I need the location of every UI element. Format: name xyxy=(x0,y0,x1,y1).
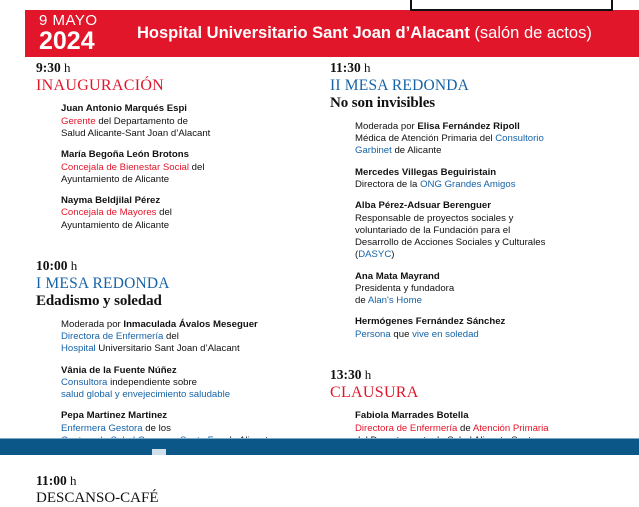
venue-parenthetical: (salón de actos) xyxy=(474,24,591,42)
top-white-tab xyxy=(410,0,613,11)
role-segment: ) xyxy=(391,249,394,260)
speaker-name-prefix: Moderada por xyxy=(61,319,123,330)
role-segment: Universitario Sant Joan d’Alacant xyxy=(96,343,240,354)
speaker-list: Moderada por Inmaculada Ávalos MeseguerD… xyxy=(61,319,326,447)
speaker-role-line: Garbinet de Alicante xyxy=(355,145,630,157)
speaker-entry: Nayma Beldjilal PérezConcejala de Mayore… xyxy=(61,195,326,232)
role-segment: que xyxy=(391,329,412,340)
role-segment: Gerente xyxy=(61,116,96,127)
role-segment: Salud Alicante-Sant Joan d’Alacant xyxy=(61,128,210,139)
block-time-value: 10:00 xyxy=(36,258,68,273)
role-segment: Garbinet xyxy=(355,145,392,156)
block-time-value: 11:30 xyxy=(330,60,361,75)
block-time: 11:00 h xyxy=(36,473,326,490)
speaker-entry: Mercedes Villegas BeguiristainDirectora … xyxy=(355,167,630,192)
speaker-entry: Hermógenes Fernández SánchezPersona que … xyxy=(355,316,630,341)
role-segment: Hospital xyxy=(61,343,96,354)
speaker-list: Moderada por Elisa Fernández RipollMédic… xyxy=(355,121,630,341)
speaker-role-line: Salud Alicante-Sant Joan d’Alacant xyxy=(61,128,326,140)
block-title: INAUGURACIÓN xyxy=(36,77,326,95)
speaker-name: Moderada por Inmaculada Ávalos Meseguer xyxy=(61,319,326,331)
footer-mark xyxy=(152,449,166,455)
role-segment: voluntariado de la Fundación para el xyxy=(355,225,510,236)
role-segment: salud global y envejecimiento saludable xyxy=(61,389,230,400)
speaker-role-line: Médica de Atención Primaria del Consulto… xyxy=(355,133,630,145)
speaker-entry: Moderada por Inmaculada Ávalos MeseguerD… xyxy=(61,319,326,356)
program-columns: 9:30 hINAUGURACIÓNJuan Antonio Marqués E… xyxy=(0,60,639,430)
speaker-role-line: Ayuntamiento de Alicante xyxy=(61,174,326,186)
speaker-role-line: voluntariado de la Fundación para el xyxy=(355,225,630,237)
speaker-name: Vânia de la Fuente Núñez xyxy=(61,365,326,377)
speaker-name-value: Inmaculada Ávalos Meseguer xyxy=(123,319,257,330)
speaker-entry: Vânia de la Fuente NúñezConsultora indep… xyxy=(61,365,326,402)
role-segment: ONG Grandes Amigos xyxy=(420,179,515,190)
role-segment: DASYC xyxy=(358,249,391,260)
header-band: 9 MAYO 2024 Hospital Universitario Sant … xyxy=(25,10,639,57)
role-segment: vive en soledad xyxy=(412,329,479,340)
speaker-name: Moderada por Elisa Fernández Ripoll xyxy=(355,121,630,133)
role-segment: Directora de Enfermería xyxy=(61,331,163,342)
block-time: 11:30 h xyxy=(330,60,630,77)
venue-main: Hospital Universitario Sant Joan d’Alaca… xyxy=(137,24,470,42)
speaker-role-line: Gerente del Departamento de xyxy=(61,116,326,128)
block-time-unit: h xyxy=(361,60,371,75)
role-segment: Persona xyxy=(355,329,391,340)
program-block: 9:30 hINAUGURACIÓNJuan Antonio Marqués E… xyxy=(36,60,326,232)
venue-title: Hospital Universitario Sant Joan d’Alaca… xyxy=(137,24,592,43)
block-time: 9:30 h xyxy=(36,60,326,77)
event-date: 9 MAYO 2024 xyxy=(39,13,98,54)
speaker-name-prefix: Moderada por xyxy=(355,121,417,132)
speaker-name: Ana Mata Mayrand xyxy=(355,271,630,283)
block-time-unit: h xyxy=(67,473,77,488)
role-segment: Desarrollo de Acciones Sociales y Cultur… xyxy=(355,237,545,248)
speaker-role-line: Concejala de Mayores del xyxy=(61,207,326,219)
block-time-value: 9:30 xyxy=(36,60,61,75)
speaker-role-line: Responsable de proyectos sociales y xyxy=(355,213,630,225)
role-segment: de los xyxy=(143,423,171,434)
block-title: II MESA REDONDA xyxy=(330,77,630,95)
role-segment: Atención Primaria xyxy=(473,423,549,434)
speaker-entry: Moderada por Elisa Fernández RipollMédic… xyxy=(355,121,630,158)
block-time: 13:30 h xyxy=(330,367,630,384)
role-segment: Enfermera Gestora xyxy=(61,423,143,434)
role-segment: Consultorio xyxy=(495,133,544,144)
role-segment: Ayuntamiento de Alicante xyxy=(61,220,169,231)
date-day: 9 MAYO xyxy=(39,13,98,28)
speaker-list: Juan Antonio Marqués EspiGerente del Dep… xyxy=(61,103,326,231)
block-subtitle: Edadismo y soledad xyxy=(36,293,326,310)
role-segment: Presidenta y fundadora xyxy=(355,283,454,294)
role-segment: independiente sobre xyxy=(107,377,197,388)
speaker-role-line: Ayuntamiento de Alicante xyxy=(61,220,326,232)
role-segment: de Alicante xyxy=(392,145,442,156)
speaker-entry: Juan Antonio Marqués EspiGerente del Dep… xyxy=(61,103,326,140)
speaker-name: Fabiola Marrades Botella xyxy=(355,410,630,422)
program-block: 11:00 hDESCANSO-CAFÉ xyxy=(36,473,326,507)
speaker-role-line: Consultora independiente sobre xyxy=(61,377,326,389)
speaker-role-line: Presidenta y fundadora xyxy=(355,283,630,295)
footer-band xyxy=(0,438,639,455)
block-subtitle: No son invisibles xyxy=(330,95,630,112)
role-segment: del xyxy=(163,331,178,342)
block-time-unit: h xyxy=(362,367,372,382)
program-block: 10:00 hI MESA REDONDAEdadismo y soledadM… xyxy=(36,258,326,447)
speaker-role-line: Enfermera Gestora de los xyxy=(61,423,326,435)
speaker-role-line: Concejala de Bienestar Social del xyxy=(61,162,326,174)
speaker-name-value: Elisa Fernández Ripoll xyxy=(417,121,519,132)
speaker-role-line: Persona que vive en soledad xyxy=(355,329,630,341)
role-segment: Directora de Enfermería xyxy=(355,423,457,434)
speaker-name: Pepa Martinez Martinez xyxy=(61,410,326,422)
role-segment: Concejala de Mayores xyxy=(61,207,156,218)
speaker-name: Mercedes Villegas Beguiristain xyxy=(355,167,630,179)
speaker-entry: Ana Mata MayrandPresidenta y fundadorade… xyxy=(355,271,630,308)
speaker-role-line: de Alan's Home xyxy=(355,295,630,307)
role-segment: de xyxy=(355,295,368,306)
role-segment: Alan's Home xyxy=(368,295,422,306)
block-time-value: 11:00 xyxy=(36,473,67,488)
speaker-role-line: Directora de Enfermería de Atención Prim… xyxy=(355,423,630,435)
program-block: 11:30 hII MESA REDONDANo son invisiblesM… xyxy=(330,60,630,341)
speaker-name: Nayma Beldjilal Pérez xyxy=(61,195,326,207)
program-column-right: 11:30 hII MESA REDONDANo son invisiblesM… xyxy=(330,60,630,468)
speaker-name: Juan Antonio Marqués Espi xyxy=(61,103,326,115)
block-time-value: 13:30 xyxy=(330,367,362,382)
speaker-entry: Alba Pérez-Adsuar BerenguerResponsable d… xyxy=(355,200,630,261)
role-segment: del Departamento de xyxy=(96,116,188,127)
speaker-name: Alba Pérez-Adsuar Berenguer xyxy=(355,200,630,212)
speaker-role-line: (DASYC) xyxy=(355,249,630,261)
role-segment: Concejala de Bienestar Social xyxy=(61,162,189,173)
role-segment: Ayuntamiento de Alicante xyxy=(61,174,169,185)
speaker-entry: María Begoña León BrotonsConcejala de Bi… xyxy=(61,149,326,186)
speaker-name: María Begoña León Brotons xyxy=(61,149,326,161)
role-segment: del xyxy=(156,207,171,218)
role-segment: Responsable de proyectos sociales y xyxy=(355,213,513,224)
block-title: I MESA REDONDA xyxy=(36,275,326,293)
speaker-role-line: Directora de la ONG Grandes Amigos xyxy=(355,179,630,191)
block-time: 10:00 h xyxy=(36,258,326,275)
date-year: 2024 xyxy=(39,29,98,54)
role-segment: Médica de Atención Primaria del xyxy=(355,133,495,144)
role-segment: de xyxy=(457,423,472,434)
block-time-unit: h xyxy=(68,258,78,273)
role-segment: Directora de la xyxy=(355,179,420,190)
speaker-role-line: salud global y envejecimiento saludable xyxy=(61,389,326,401)
role-segment: Consultora xyxy=(61,377,107,388)
speaker-role-line: Desarrollo de Acciones Sociales y Cultur… xyxy=(355,237,630,249)
role-segment: del xyxy=(189,162,204,173)
block-title: CLAUSURA xyxy=(330,384,630,402)
block-time-unit: h xyxy=(61,60,71,75)
speaker-role-line: Directora de Enfermería del xyxy=(61,331,326,343)
block-title: DESCANSO-CAFÉ xyxy=(36,490,326,507)
speaker-name: Hermógenes Fernández Sánchez xyxy=(355,316,630,328)
speaker-role-line: Hospital Universitario Sant Joan d’Alaca… xyxy=(61,343,326,355)
